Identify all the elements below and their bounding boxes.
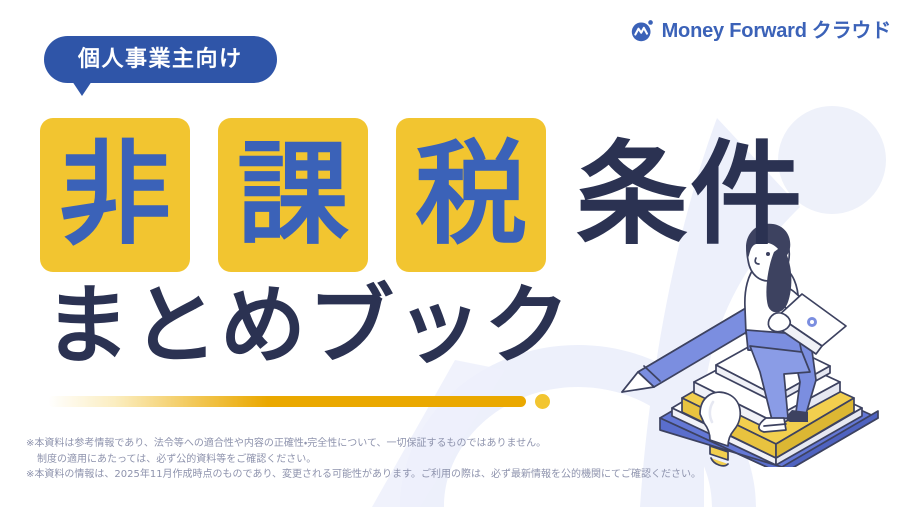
- headline-kanji-box-3: 税: [396, 118, 546, 272]
- disclaimer-line-3: ※本資料の情報は、2025年11月作成時点のものであり、変更される可能性がありま…: [26, 467, 701, 483]
- audience-badge-label: 個人事業主向け: [44, 36, 277, 83]
- brand-logo-text: Money Forwardクラウド: [662, 21, 891, 41]
- hand-illustration: [768, 313, 790, 332]
- headline-kanji-box-1: 非: [40, 118, 190, 272]
- headline: 非 課 税 条件: [40, 118, 804, 272]
- subtitle-text: まとめブック: [44, 283, 572, 369]
- money-forward-circle-mark: [630, 18, 655, 43]
- headline-kanji-3: 税: [415, 139, 527, 251]
- headline-kanji-2: 課: [237, 139, 349, 251]
- disclaimer-text: ※本資料は参考情報であり、法令等への適合性や内容の正確性・完全性について、一切保…: [26, 436, 701, 483]
- cover-page: Money Forwardクラウド 個人事業主向け 非 課 税 条件 まとめブッ…: [0, 0, 913, 507]
- accent-rule-bar: [48, 396, 526, 407]
- decorative-wedge-shape: [372, 360, 505, 507]
- disclaimer-line-1: ※本資料は参考情報であり、法令等への適合性や内容の正確性・完全性について、一切保…: [26, 436, 701, 452]
- headline-tail-text: 条件: [576, 139, 804, 251]
- headline-kanji-1: 非: [59, 139, 171, 251]
- disclaimer-line-2: 制度の適用にあたっては、必ず公的資料等をご確認ください。: [26, 452, 701, 468]
- brand-cloud-label: クラウド: [812, 20, 891, 42]
- audience-badge: 個人事業主向け: [44, 36, 277, 83]
- accent-rule-dot: [535, 394, 550, 409]
- brand-logo: Money Forwardクラウド: [630, 18, 891, 43]
- brand-name: Money Forward: [662, 20, 807, 42]
- accent-rule: [48, 394, 550, 409]
- badge-tail-triangle: [72, 81, 92, 96]
- headline-kanji-box-2: 課: [218, 118, 368, 272]
- logo-mark-svg: [630, 18, 655, 43]
